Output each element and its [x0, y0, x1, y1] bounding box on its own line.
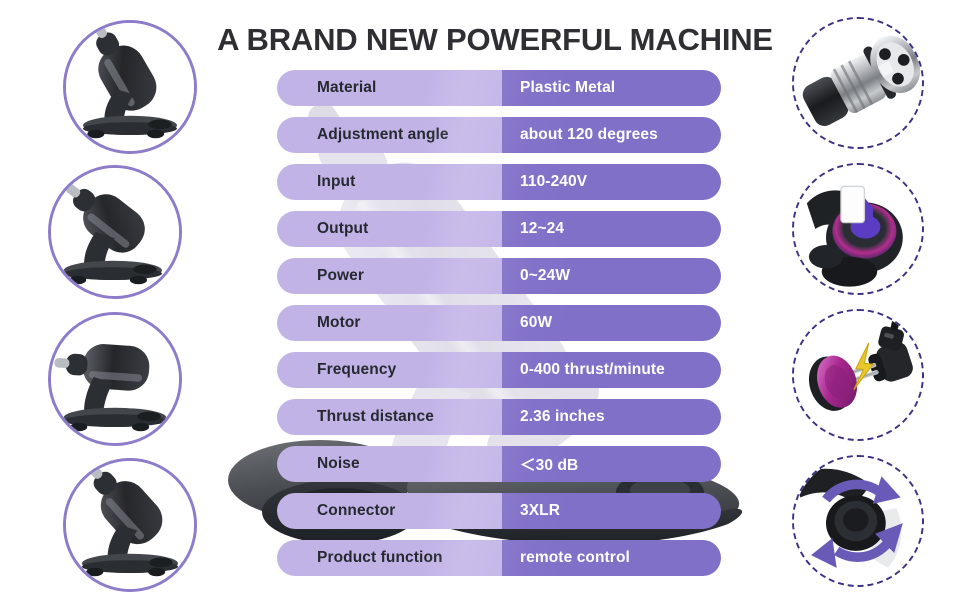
table-row: Power 0~24W	[277, 258, 721, 294]
spec-label: Noise	[277, 446, 502, 482]
table-row: Frequency 0-400 thrust/minute	[277, 352, 721, 388]
spec-value: 60W	[502, 305, 721, 341]
machine-horizontal-photo	[48, 312, 182, 446]
spec-value: about 120 degrees	[502, 117, 721, 153]
spec-value: 2.36 inches	[502, 399, 721, 435]
table-row: Adjustment angle about 120 degrees	[277, 117, 721, 153]
spec-label: Thrust distance	[277, 399, 502, 435]
spec-label: Connector	[277, 493, 502, 529]
spec-label: Output	[277, 211, 502, 247]
spec-label: Product function	[277, 540, 502, 576]
table-row: Connector 3XLR	[277, 493, 721, 529]
spec-label: Input	[277, 164, 502, 200]
table-row: Material Plastic Metal	[277, 70, 721, 106]
spec-label: Adjustment angle	[277, 117, 502, 153]
spec-label: Material	[277, 70, 502, 106]
rotation-joint-photo	[792, 455, 924, 587]
spec-value: Plastic Metal	[502, 70, 721, 106]
machine-angled-up-photo	[63, 20, 197, 154]
spec-value: 0~24W	[502, 258, 721, 294]
quick-connect-photo	[792, 309, 924, 441]
spec-value: ＜30 dB	[502, 446, 721, 482]
spec-label: Frequency	[277, 352, 502, 388]
spec-label: Motor	[277, 305, 502, 341]
table-row: Product function remote control	[277, 540, 721, 576]
attachment-mount-photo	[792, 163, 924, 295]
infographic-canvas: A BRAND NEW POWERFUL MACHINE	[0, 0, 970, 600]
machine-angled-down-photo	[48, 165, 182, 299]
spec-value: 12~24	[502, 211, 721, 247]
table-row: Noise ＜30 dB	[277, 446, 721, 482]
table-row: Input 110-240V	[277, 164, 721, 200]
spec-table: Material Plastic Metal Adjustment angle …	[277, 70, 721, 587]
spec-value: 3XLR	[502, 493, 721, 529]
table-row: Motor 60W	[277, 305, 721, 341]
table-row: Thrust distance 2.36 inches	[277, 399, 721, 435]
machine-steep-angle-photo	[63, 458, 197, 592]
spec-value: remote control	[502, 540, 721, 576]
xlr-connector-photo	[792, 17, 924, 149]
spec-label: Power	[277, 258, 502, 294]
table-row: Output 12~24	[277, 211, 721, 247]
page-title: A BRAND NEW POWERFUL MACHINE	[215, 18, 775, 62]
spec-value: 0-400 thrust/minute	[502, 352, 721, 388]
spec-value: 110-240V	[502, 164, 721, 200]
